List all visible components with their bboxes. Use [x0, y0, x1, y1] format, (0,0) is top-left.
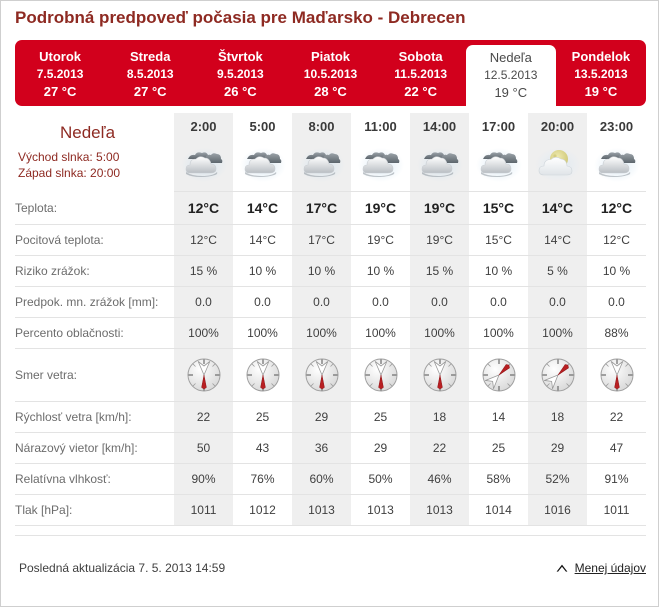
cell-23-00: 10 %	[587, 256, 646, 287]
row-label-cloudiness: Percento oblačnosti:	[15, 318, 174, 349]
cell-14-00: 15 %	[410, 256, 469, 287]
cell-value: 10 %	[485, 264, 512, 278]
cell-17-00: 15°C	[469, 192, 528, 225]
cell-value: 10 %	[603, 264, 630, 278]
cell-value: 15 %	[426, 264, 453, 278]
day-tab-temp: 27 °C	[134, 83, 167, 101]
cell-5-00: 43	[233, 433, 292, 464]
cell-value: 1013	[426, 503, 453, 517]
day-tab-streda[interactable]: Streda8.5.201327 °C	[105, 40, 195, 106]
day-tab-name: Štvrtok	[218, 48, 263, 66]
cell-23-00: 12°C	[587, 192, 646, 225]
cell-value: 50	[197, 441, 210, 455]
cell-20-00: 5 %	[528, 256, 587, 287]
cell-14-00	[410, 349, 469, 402]
cell-23-00: 12°C	[587, 225, 646, 256]
cell-value: 0.0	[372, 295, 389, 309]
cell-14-00: 1013	[410, 495, 469, 526]
cell-8-00: 0.0	[292, 287, 351, 318]
day-tab-piatok[interactable]: Piatok10.5.201328 °C	[285, 40, 375, 106]
cell-20-00	[528, 349, 587, 402]
day-tab-date: 13.5.2013	[574, 66, 627, 83]
day-tab-utorok[interactable]: Utorok7.5.201327 °C	[15, 40, 105, 106]
cell-17-00: 10 %	[469, 256, 528, 287]
cell-2-00: 2:00	[174, 113, 233, 139]
cell-2-00	[174, 349, 233, 402]
row-feels-like: Pocitová teplota:12°C14°C17°C19°C19°C15°…	[15, 225, 646, 256]
cell-2-00: 50	[174, 433, 233, 464]
hour-label: 2:00	[190, 119, 216, 134]
cell-value: 100%	[188, 326, 219, 340]
cell-5-00: 25	[233, 402, 292, 433]
cell-2-00	[174, 139, 233, 192]
cell-11-00: 50%	[351, 464, 410, 495]
hour-label: 8:00	[308, 119, 334, 134]
cell-value: 100%	[542, 326, 573, 340]
row-label-feels-like: Pocitová teplota:	[15, 225, 174, 256]
cell-value: 47	[610, 441, 623, 455]
row-label-wind-speed: Rýchlosť vetra [km/h]:	[15, 402, 174, 433]
less-data-label: Menej údajov	[575, 561, 646, 575]
cell-value: 100%	[483, 326, 514, 340]
cell-value: 10 %	[367, 264, 394, 278]
cell-2-00: 15 %	[174, 256, 233, 287]
cell-5-00	[233, 349, 292, 402]
cell-17-00: 0.0	[469, 287, 528, 318]
cell-14-00: 46%	[410, 464, 469, 495]
less-data-toggle[interactable]: Menej údajov	[555, 561, 646, 575]
cell-value: 100%	[424, 326, 455, 340]
cell-14-00: 22	[410, 433, 469, 464]
row-wind-speed: Rýchlosť vetra [km/h]:2225292518141822	[15, 402, 646, 433]
cell-17-00	[469, 349, 528, 402]
cell-17-00: 1014	[469, 495, 528, 526]
cell-value: 25	[492, 441, 505, 455]
footer-divider	[15, 535, 646, 536]
cell-value: 0.0	[490, 295, 507, 309]
wind-direction-compass	[538, 355, 578, 395]
day-tab-sobota[interactable]: Sobota11.5.201322 °C	[376, 40, 466, 106]
cell-value: 5 %	[547, 264, 568, 278]
wind-direction-compass	[597, 355, 637, 395]
cell-value: 19°C	[367, 233, 394, 247]
cell-14-00	[410, 139, 469, 192]
overcast-clouds-icon	[240, 145, 286, 185]
day-tab-date: 9.5.2013	[217, 66, 264, 83]
row-label-precip-amount: Predpok. mn. zrážok [mm]:	[15, 287, 174, 318]
day-tab-name: Nedeľa	[490, 49, 532, 67]
hours-header-row: NedeľaVýchod slnka: 5:00Západ slnka: 20:…	[15, 113, 646, 139]
cell-23-00: 47	[587, 433, 646, 464]
cell-11-00: 11:00	[351, 113, 410, 139]
wind-direction-compass	[243, 355, 283, 395]
row-wind-gust: Nárazový vietor [km/h]:5043362922252947	[15, 433, 646, 464]
cell-value: 100%	[365, 326, 396, 340]
cell-20-00: 20:00	[528, 113, 587, 139]
cell-value: 0.0	[195, 295, 212, 309]
cell-value: 18	[433, 410, 446, 424]
cell-2-00: 100%	[174, 318, 233, 349]
cell-value: 15°C	[485, 233, 512, 247]
cell-23-00: 0.0	[587, 287, 646, 318]
cell-11-00: 19°C	[351, 225, 410, 256]
overcast-clouds-icon	[358, 145, 404, 185]
cell-14-00: 100%	[410, 318, 469, 349]
cell-17-00: 14	[469, 402, 528, 433]
cell-8-00	[292, 349, 351, 402]
cell-20-00: 0.0	[528, 287, 587, 318]
selected-day-title: Nedeľa	[15, 123, 174, 149]
row-precip-risk: Riziko zrážok:15 %10 %10 %10 %15 %10 %5 …	[15, 256, 646, 287]
day-tab-name: Sobota	[399, 48, 443, 66]
cell-5-00: 76%	[233, 464, 292, 495]
cell-value: 12°C	[601, 200, 632, 216]
cell-value: 25	[374, 410, 387, 424]
cell-value: 19°C	[365, 200, 396, 216]
wind-direction-compass	[361, 355, 401, 395]
cell-value: 100%	[247, 326, 278, 340]
cell-17-00: 58%	[469, 464, 528, 495]
cell-23-00: 91%	[587, 464, 646, 495]
moon-behind-cloud-icon	[535, 145, 581, 185]
cell-20-00	[528, 139, 587, 192]
forecast-table: NedeľaVýchod slnka: 5:00Západ slnka: 20:…	[15, 113, 646, 526]
day-tab-name: Piatok	[311, 48, 350, 66]
hour-label: 20:00	[541, 119, 574, 134]
cell-value: 14°C	[249, 233, 276, 247]
sunset-text: Západ slnka: 20:00	[15, 165, 174, 181]
cell-23-00	[587, 139, 646, 192]
cell-value: 12°C	[603, 233, 630, 247]
row-humidity: Relatívna vlhkosť:90%76%60%50%46%58%52%9…	[15, 464, 646, 495]
cell-11-00: 29	[351, 433, 410, 464]
cell-value: 17°C	[306, 200, 337, 216]
cell-14-00: 18	[410, 402, 469, 433]
cell-value: 12°C	[190, 233, 217, 247]
cell-8-00: 100%	[292, 318, 351, 349]
cell-value: 10 %	[249, 264, 276, 278]
cell-11-00: 1013	[351, 495, 410, 526]
cell-17-00: 25	[469, 433, 528, 464]
row-pressure: Tlak [hPa]:10111012101310131013101410161…	[15, 495, 646, 526]
cell-5-00: 10 %	[233, 256, 292, 287]
cell-20-00: 100%	[528, 318, 587, 349]
overcast-clouds-icon	[299, 145, 345, 185]
wind-direction-compass	[420, 355, 460, 395]
day-tab-date: 8.5.2013	[127, 66, 174, 83]
cell-value: 12°C	[188, 200, 219, 216]
hour-label: 11:00	[364, 119, 397, 134]
cell-value: 1011	[604, 503, 630, 517]
cell-11-00: 0.0	[351, 287, 410, 318]
cell-2-00: 22	[174, 402, 233, 433]
cell-11-00: 100%	[351, 318, 410, 349]
cell-5-00: 0.0	[233, 287, 292, 318]
cell-value: 1013	[308, 503, 335, 517]
last-updated-text: Posledná aktualizácia 7. 5. 2013 14:59	[19, 561, 225, 575]
day-tab-temp: 27 °C	[44, 83, 77, 101]
cell-17-00: 15°C	[469, 225, 528, 256]
day-tab-name: Streda	[130, 48, 170, 66]
cell-value: 52%	[545, 472, 569, 486]
cell-value: 19°C	[426, 233, 453, 247]
day-tab-temp: 22 °C	[404, 83, 437, 101]
cell-20-00: 1016	[528, 495, 587, 526]
day-tab-date: 7.5.2013	[37, 66, 84, 83]
sunrise-text: Východ slnka: 5:00	[15, 149, 174, 165]
hour-label: 23:00	[600, 119, 633, 134]
cell-value: 43	[256, 441, 269, 455]
row-label-humidity: Relatívna vlhkosť:	[15, 464, 174, 495]
cell-5-00: 14°C	[233, 225, 292, 256]
day-tab-pondelok[interactable]: Pondelok13.5.201319 °C	[556, 40, 646, 106]
cell-8-00: 29	[292, 402, 351, 433]
cell-14-00: 0.0	[410, 287, 469, 318]
cell-value: 91%	[604, 472, 628, 486]
cell-17-00: 100%	[469, 318, 528, 349]
cell-8-00: 36	[292, 433, 351, 464]
row-cloudiness: Percento oblačnosti:100%100%100%100%100%…	[15, 318, 646, 349]
cell-value: 14°C	[247, 200, 278, 216]
wind-direction-compass	[302, 355, 342, 395]
cell-value: 36	[315, 441, 328, 455]
row-precip-amount: Predpok. mn. zrážok [mm]:0.00.00.00.00.0…	[15, 287, 646, 318]
cell-value: 46%	[427, 472, 451, 486]
row-label-wind-gust: Nárazový vietor [km/h]:	[15, 433, 174, 464]
cell-11-00: 25	[351, 402, 410, 433]
cell-value: 50%	[368, 472, 392, 486]
overcast-clouds-icon	[181, 145, 227, 185]
cell-value: 100%	[306, 326, 337, 340]
cell-value: 18	[551, 410, 564, 424]
cell-value: 22	[610, 410, 623, 424]
cell-value: 10 %	[308, 264, 335, 278]
row-wind-dir: Smer vetra:	[15, 349, 646, 402]
day-tab-date: 10.5.2013	[304, 66, 357, 83]
day-tab-date: 11.5.2013	[394, 66, 447, 83]
day-tab-bar: Utorok7.5.201327 °CStreda8.5.201327 °CŠt…	[15, 40, 646, 106]
hour-label: 17:00	[482, 119, 515, 134]
day-tab-temp: 26 °C	[224, 83, 257, 101]
cell-17-00	[469, 139, 528, 192]
cell-5-00: 5:00	[233, 113, 292, 139]
day-tab-nedeľa[interactable]: Nedeľa12.5.201319 °C	[466, 45, 556, 106]
cell-value: 1011	[191, 503, 217, 517]
cell-20-00: 29	[528, 433, 587, 464]
cell-value: 0.0	[608, 295, 625, 309]
cell-20-00: 18	[528, 402, 587, 433]
day-tab-temp: 19 °C	[494, 84, 527, 102]
cell-23-00: 22	[587, 402, 646, 433]
day-tab-name: Utorok	[39, 48, 81, 66]
day-tab-temp: 28 °C	[314, 83, 347, 101]
row-label-wind-dir: Smer vetra:	[15, 349, 174, 402]
cell-value: 22	[197, 410, 210, 424]
cell-5-00	[233, 139, 292, 192]
cell-value: 19°C	[424, 200, 455, 216]
cell-value: 29	[315, 410, 328, 424]
cell-value: 1016	[544, 503, 571, 517]
cell-8-00: 1013	[292, 495, 351, 526]
cell-value: 1014	[485, 503, 512, 517]
cell-20-00: 14°C	[528, 192, 587, 225]
footer: Posledná aktualizácia 7. 5. 2013 14:59 M…	[1, 561, 659, 585]
cell-2-00: 12°C	[174, 192, 233, 225]
cell-5-00: 14°C	[233, 192, 292, 225]
day-tab-temp: 19 °C	[585, 83, 618, 101]
cell-value: 1013	[367, 503, 394, 517]
cell-14-00: 14:00	[410, 113, 469, 139]
cell-value: 29	[374, 441, 387, 455]
weather-forecast-widget: Podrobná predpoveď počasia pre Maďarsko …	[0, 0, 659, 607]
cell-value: 15°C	[483, 200, 514, 216]
cell-value: 76%	[250, 472, 274, 486]
cell-20-00: 14°C	[528, 225, 587, 256]
hour-label: 14:00	[423, 119, 456, 134]
cell-value: 0.0	[313, 295, 330, 309]
cell-8-00: 17°C	[292, 192, 351, 225]
overcast-clouds-icon	[476, 145, 522, 185]
day-tab-štvrtok[interactable]: Štvrtok9.5.201326 °C	[195, 40, 285, 106]
cell-value: 90%	[191, 472, 215, 486]
cell-5-00: 100%	[233, 318, 292, 349]
cell-8-00: 60%	[292, 464, 351, 495]
row-temperature: Teplota:12°C14°C17°C19°C19°C15°C14°C12°C	[15, 192, 646, 225]
cell-23-00: 88%	[587, 318, 646, 349]
cell-11-00	[351, 139, 410, 192]
chevron-up-icon	[555, 563, 569, 573]
cell-23-00	[587, 349, 646, 402]
cell-value: 0.0	[549, 295, 566, 309]
cell-value: 14°C	[544, 233, 571, 247]
cell-value: 17°C	[308, 233, 335, 247]
cell-11-00: 10 %	[351, 256, 410, 287]
cell-8-00: 17°C	[292, 225, 351, 256]
cell-8-00: 8:00	[292, 113, 351, 139]
cell-value: 1012	[249, 503, 276, 517]
cell-8-00: 10 %	[292, 256, 351, 287]
cell-value: 25	[256, 410, 269, 424]
row-label-temperature: Teplota:	[15, 192, 174, 225]
row-label-pressure: Tlak [hPa]:	[15, 495, 174, 526]
day-tab-name: Pondelok	[572, 48, 631, 66]
row-label-precip-risk: Riziko zrážok:	[15, 256, 174, 287]
cell-value: 58%	[486, 472, 510, 486]
cell-20-00: 52%	[528, 464, 587, 495]
cell-value: 0.0	[254, 295, 271, 309]
cell-2-00: 12°C	[174, 225, 233, 256]
cell-14-00: 19°C	[410, 192, 469, 225]
overcast-clouds-icon	[594, 145, 640, 185]
hour-label: 5:00	[249, 119, 275, 134]
cell-2-00: 0.0	[174, 287, 233, 318]
cell-5-00: 1012	[233, 495, 292, 526]
cell-23-00: 1011	[587, 495, 646, 526]
cell-17-00: 17:00	[469, 113, 528, 139]
cell-value: 0.0	[431, 295, 448, 309]
cell-2-00: 1011	[174, 495, 233, 526]
cell-2-00: 90%	[174, 464, 233, 495]
wind-direction-compass	[479, 355, 519, 395]
day-summary-cell: NedeľaVýchod slnka: 5:00Západ slnka: 20:…	[15, 113, 174, 192]
cell-11-00	[351, 349, 410, 402]
cell-value: 14	[492, 410, 505, 424]
cell-value: 29	[551, 441, 564, 455]
cell-14-00: 19°C	[410, 225, 469, 256]
cell-value: 22	[433, 441, 446, 455]
cell-value: 60%	[309, 472, 333, 486]
overcast-clouds-icon	[417, 145, 463, 185]
cell-8-00	[292, 139, 351, 192]
page-title: Podrobná predpoveď počasia pre Maďarsko …	[15, 8, 466, 28]
cell-value: 15 %	[190, 264, 217, 278]
day-tab-date: 12.5.2013	[484, 67, 537, 84]
cell-23-00: 23:00	[587, 113, 646, 139]
wind-direction-compass	[184, 355, 224, 395]
cell-value: 14°C	[542, 200, 573, 216]
cell-11-00: 19°C	[351, 192, 410, 225]
cell-value: 88%	[604, 326, 628, 340]
